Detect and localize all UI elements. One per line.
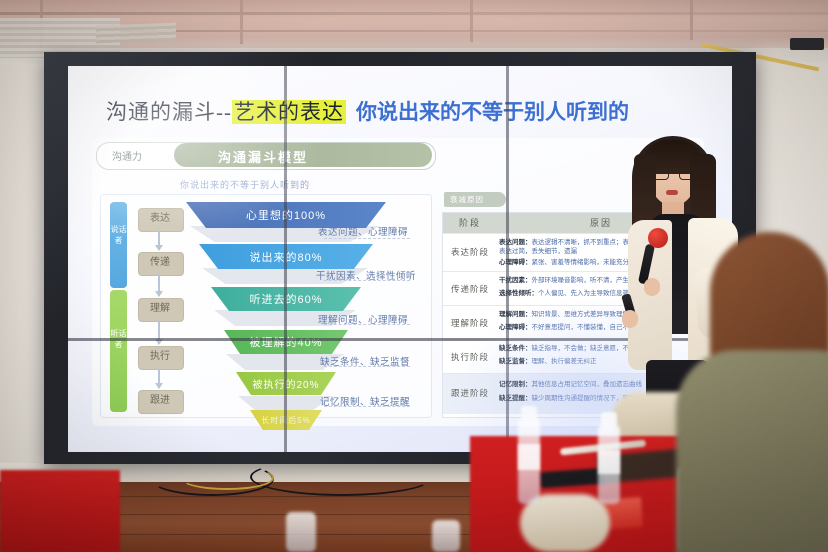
reason-value: 理解、执行偏差无纠正 — [532, 358, 597, 365]
table-header-stage-label: 阶段 — [443, 213, 497, 233]
annotation-line-1 — [324, 238, 410, 239]
reason-key: 心理障碍： — [499, 259, 532, 266]
stage-arrow-4 — [158, 368, 160, 388]
pill-title: 沟通漏斗模型 — [218, 147, 308, 166]
reason-key: 缺乏提醒： — [499, 395, 532, 402]
slide-title-sub: 你说出来的不等于别人听到的 — [356, 100, 629, 124]
stage-label-1: 表达 — [138, 208, 182, 230]
table-cell-stage: 传递阶段 — [443, 283, 497, 295]
table-cell-stage: 表达阶段 — [443, 246, 497, 258]
annotation-4: 缺乏条件、缺乏监督 — [320, 354, 410, 368]
ceiling-mount-box — [790, 38, 824, 50]
stage-arrow-2 — [158, 274, 160, 296]
stage-label-3: 理解 — [138, 298, 182, 320]
reason-key: 理解问题： — [499, 311, 532, 318]
table-header-stage: 阶段 — [443, 213, 498, 233]
audience-body — [676, 350, 828, 552]
pill-left-label: 沟通力 — [112, 148, 142, 163]
reason-key: 缺乏监督： — [499, 358, 532, 365]
reason-key: 缺乏条件： — [499, 345, 532, 352]
presenter-hand-right — [644, 278, 660, 296]
annotation-3: 理解问题、心理障碍 — [318, 312, 408, 326]
ceiling-rail-3 — [470, 0, 473, 42]
annotation-1: 表达问题、心理障碍 — [318, 224, 408, 238]
bottle-cap-1 — [521, 406, 537, 420]
stage-label-4: 执行 — [138, 346, 182, 368]
ceiling-rail-2 — [240, 0, 243, 44]
stage-arrow-1 — [158, 230, 160, 250]
table-tab-label: 衰减原因 — [444, 192, 506, 207]
red-table-left — [0, 470, 120, 552]
bottle-label-2 — [598, 450, 620, 474]
floor-cable-yellow — [180, 466, 274, 490]
stage-label-5: 跟进 — [138, 390, 182, 412]
slide-title-main: 沟通的漏斗-- — [106, 100, 232, 124]
reason-key: 表达问题： — [499, 239, 532, 246]
screenshot-root: 沟通的漏斗--艺术的表达你说出来的不等于别人听到的 沟通力 沟通漏斗模型 你说出… — [0, 0, 828, 552]
bezel-seam-vertical-1 — [284, 66, 287, 452]
annotation-5: 记忆限制、缺乏提醒 — [320, 394, 410, 408]
bezel-seam-vertical-2 — [506, 66, 509, 452]
ceiling-rail-4 — [690, 0, 693, 40]
presenter-hand-left — [622, 310, 638, 328]
table-cell-stage: 理解阶段 — [443, 317, 497, 329]
table-tab: 衰减原因 — [444, 192, 506, 207]
role-bar-listener — [110, 290, 127, 412]
wall-shutter-secondary — [96, 23, 176, 44]
stage-label-2: 传递 — [138, 252, 182, 274]
reason-key: 心理障碍： — [499, 324, 532, 331]
slide-title: 沟通的漏斗--艺术的表达你说出来的不等于别人听到的 — [106, 96, 629, 126]
microphone-icon — [648, 228, 668, 248]
table-cell-stage: 执行阶段 — [443, 351, 497, 363]
bottle-cap-2 — [601, 412, 617, 426]
presenter-lips — [666, 190, 678, 195]
role-label-speaker: 说话者 — [110, 224, 127, 246]
reason-key: 选择性倾听： — [499, 290, 538, 297]
audience-member — [686, 232, 828, 552]
ceiling-beam — [0, 12, 828, 15]
reason-key: 记忆限制： — [499, 381, 532, 388]
water-bottle-3 — [286, 512, 316, 552]
table-cell-stage: 跟进阶段 — [443, 387, 497, 399]
bottle-label-1 — [518, 444, 540, 470]
slide-title-highlight: 艺术的表达 — [232, 100, 346, 124]
annotation-2: 干扰因素、选择性倾听 — [316, 268, 416, 282]
reason-key: 干扰因素： — [499, 277, 532, 284]
water-bottle-4 — [432, 520, 460, 552]
slide-subtitle: 你说出来的不等于别人听到的 — [180, 178, 310, 191]
